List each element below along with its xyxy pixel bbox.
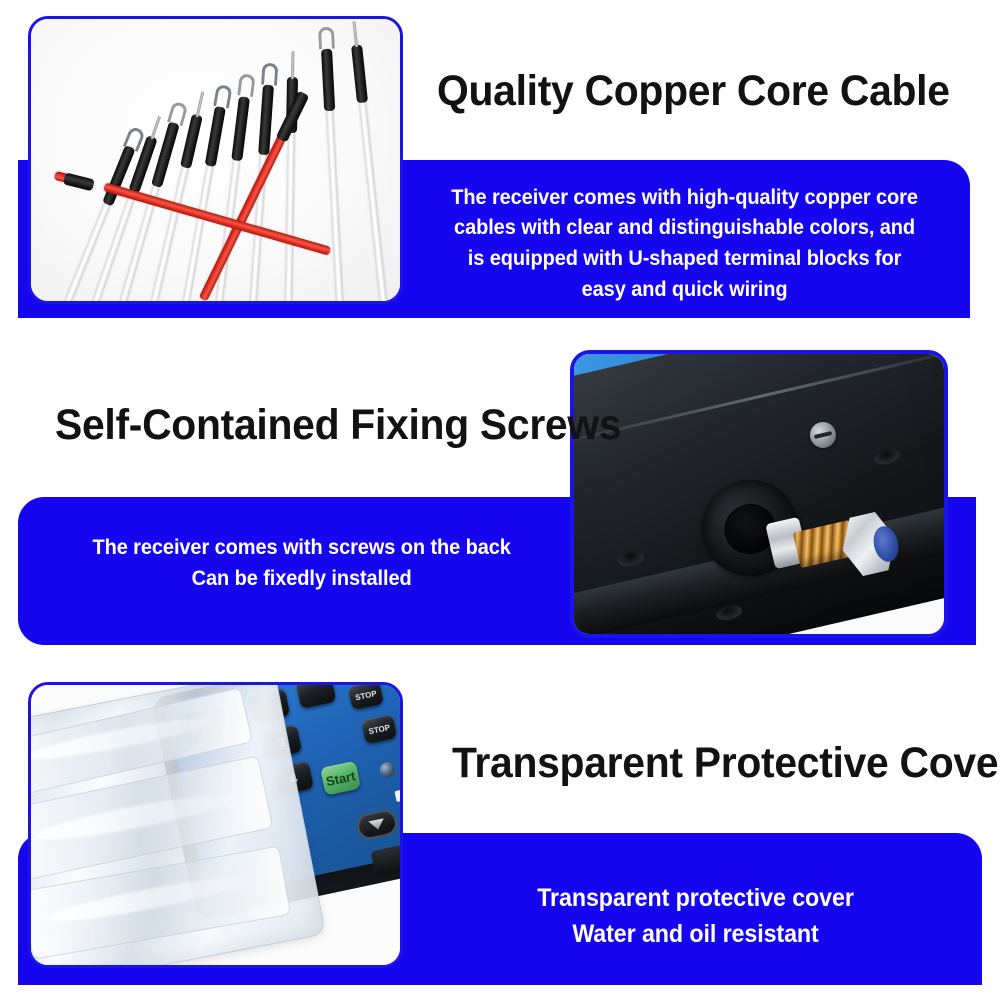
- photo-fixing-screws: [570, 350, 948, 638]
- remote-selector-knob: [355, 808, 400, 842]
- remote-key-start: Start: [320, 761, 361, 796]
- remote-foot: [371, 843, 400, 877]
- photo-protective-cover: 3 4 STOP STOP Start: [28, 682, 403, 968]
- heading-copper-core-cable: Quality Copper Core Cable: [437, 70, 950, 113]
- transparent-protective-cover: [31, 685, 326, 965]
- remote-key-2: [296, 685, 337, 709]
- remote-name-label: [394, 784, 400, 802]
- photo-copper-core-cable: [28, 16, 403, 304]
- heading-fixing-screws: Self-Contained Fixing Screws: [55, 404, 621, 447]
- photo-protective-cover-inner: 3 4 STOP STOP Start: [31, 685, 400, 965]
- remote-key-stop-2: STOP: [361, 714, 397, 744]
- infographic-page: The receiver comes with high-quality cop…: [0, 0, 1000, 1000]
- photo-fixing-screws-inner: [574, 354, 944, 634]
- photo-copper-core-cable-inner: [31, 19, 400, 301]
- remote-key-stop-1: STOP: [348, 685, 384, 710]
- remote-status-led: [378, 761, 396, 779]
- heading-protective-cover: Transparent Protective Cover: [452, 742, 1000, 785]
